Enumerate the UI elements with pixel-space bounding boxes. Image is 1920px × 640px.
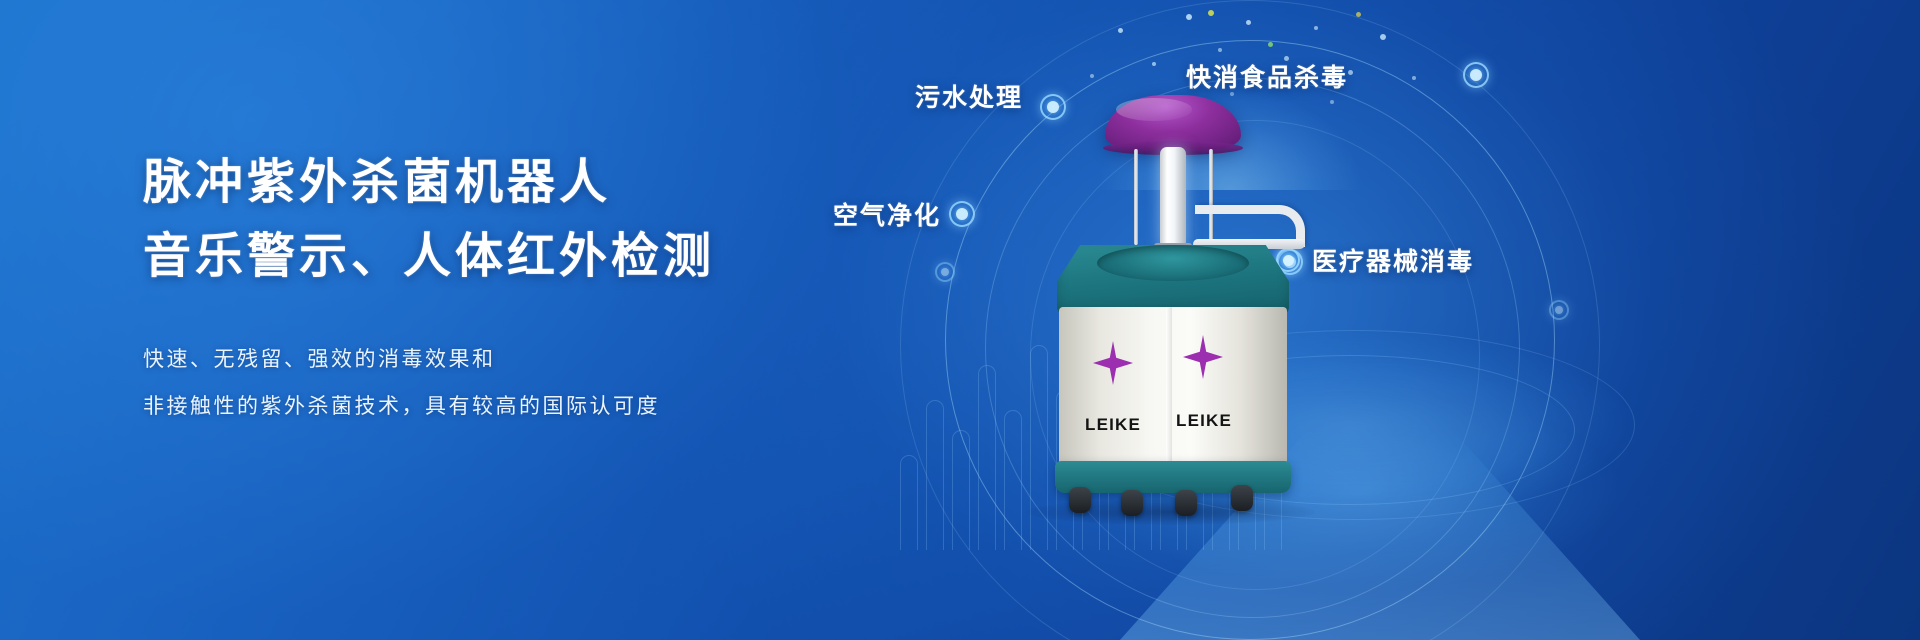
connector-node-food: [1463, 62, 1489, 88]
feature-text-wastewater: 污水处理: [915, 78, 1023, 114]
description-line-1: 快速、无残留、强效的消毒效果和: [143, 336, 863, 382]
product-hero-banner: 脉冲紫外杀菌机器人 音乐警示、人体红外检测 快速、无残留、强效的消毒效果和 非接…: [0, 0, 1920, 640]
caster-wheel-1: [1069, 487, 1091, 513]
feature-label-fmcg-food-sterilization: 快消食品杀毒: [1186, 58, 1348, 94]
feature-label-wastewater-treatment: 污水处理: [915, 78, 1023, 114]
headline-line-1: 脉冲紫外杀菌机器人: [143, 150, 863, 216]
connector-node-air: [949, 201, 975, 227]
description-block: 快速、无残留、强效的消毒效果和 非接触性的紫外杀菌技术，具有较高的国际认可度: [143, 336, 863, 428]
feature-text-medical: 医疗器械消毒: [1312, 242, 1474, 278]
brand-label-right: LEIKE: [1176, 411, 1232, 431]
cabinet-body-panel: [1059, 307, 1287, 467]
connector-node-minor-2: [1549, 300, 1569, 320]
feature-label-air-purification: 空气净化: [833, 196, 941, 232]
caster-wheel-2: [1121, 490, 1143, 516]
caster-wheel-3: [1175, 490, 1197, 516]
uv-lamp-tube: [1160, 147, 1186, 249]
cabinet-top-recess: [1097, 245, 1249, 281]
cabinet-base-shell: [1055, 461, 1291, 493]
caster-wheel-4: [1231, 485, 1253, 511]
feature-label-medical-device-disinfection: 医疗器械消毒: [1276, 242, 1474, 278]
headline-line-2: 音乐警示、人体红外检测: [143, 224, 863, 290]
feature-text-food: 快消食品杀毒: [1186, 58, 1348, 94]
feature-text-air: 空气净化: [833, 196, 941, 232]
description-line-2: 非接触性的紫外杀菌技术，具有较高的国际认可度: [143, 383, 863, 429]
connector-node-minor-1: [935, 262, 955, 282]
uv-sterilization-robot-illustration: LEIKE LEIKE: [1035, 95, 1305, 505]
banner-copy: 脉冲紫外杀菌机器人 音乐警示、人体红外检测 快速、无残留、强效的消毒效果和 非接…: [143, 150, 863, 429]
brand-label-left: LEIKE: [1085, 415, 1141, 435]
lamp-support-rod-left: [1134, 149, 1138, 245]
